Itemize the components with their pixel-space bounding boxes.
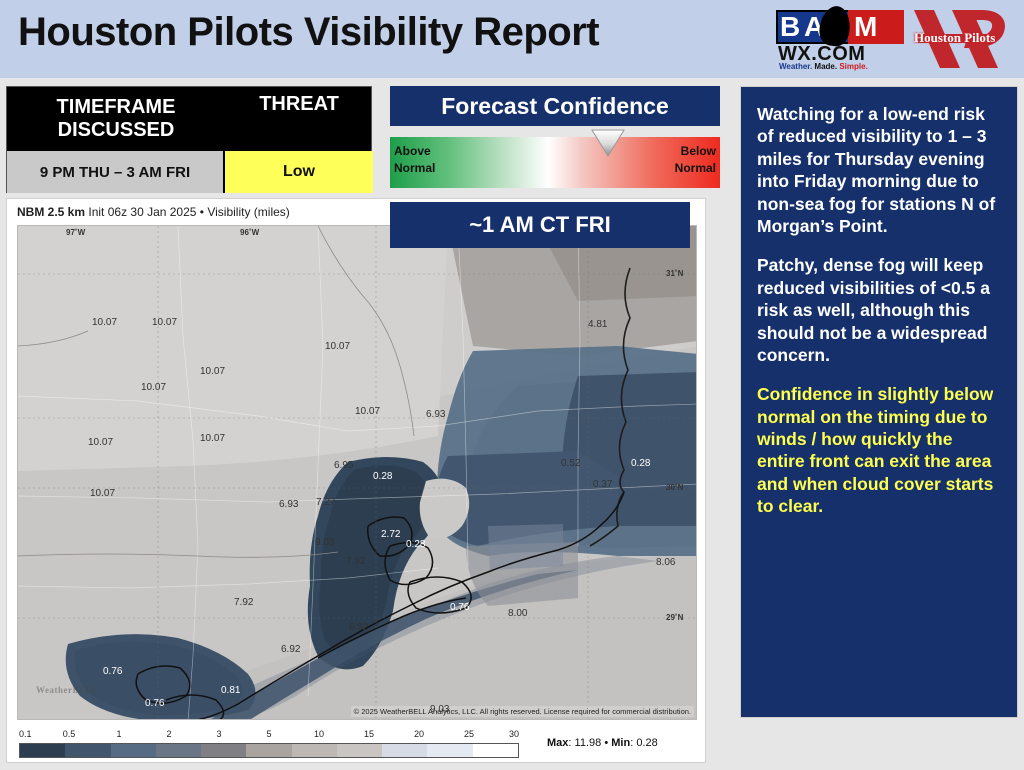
timeframe-threat-table: TIMEFRAME DISCUSSED THREAT 9 PM THU – 3 … bbox=[6, 86, 372, 193]
colorbar-tick-2: 2 bbox=[166, 729, 171, 739]
bam-letter-b: B bbox=[780, 11, 800, 43]
lon-label-97w: 97˚W bbox=[66, 228, 85, 237]
weatherbell-watermark: WeatherBELL bbox=[36, 685, 99, 695]
colorbar-tick-0.5: 0.5 bbox=[63, 729, 76, 739]
stats-separator: • bbox=[604, 737, 608, 749]
header-timeframe-line2: DISCUSSED bbox=[58, 119, 175, 142]
colorbar-band-0 bbox=[20, 744, 65, 757]
colorbar: 0.10.512351015202530 bbox=[19, 729, 519, 759]
min-label: Min bbox=[611, 737, 630, 749]
discussion-panel: Watching for a low-end risk of reduced v… bbox=[740, 86, 1018, 718]
header-cell-threat: THREAT bbox=[225, 87, 373, 151]
colorbar-band-8 bbox=[382, 744, 427, 757]
header-timeframe-line1: TIMEFRAME bbox=[57, 96, 176, 119]
bam-letter-m: M bbox=[854, 11, 877, 43]
colorbar-tick-30: 30 bbox=[509, 729, 519, 739]
map-minmax-stats: Max: 11.98 • Min: 0.28 bbox=[547, 737, 658, 749]
confidence-label-above-normal: Above Normal bbox=[394, 143, 435, 178]
cell-threat-value: Low bbox=[225, 151, 373, 193]
colorbar-tick-25: 25 bbox=[464, 729, 474, 739]
colorbar-band-4 bbox=[201, 744, 246, 757]
colorbar-band-7 bbox=[337, 744, 382, 757]
colorbar-tick-0.1: 0.1 bbox=[19, 729, 32, 739]
map-caption: NBM 2.5 km Init 06z 30 Jan 2025 • Visibi… bbox=[17, 205, 290, 219]
header-cell-timeframe: TIMEFRAME DISCUSSED bbox=[7, 87, 225, 151]
lat-label-30n: 30˚N bbox=[666, 483, 683, 492]
page-title: Houston Pilots Visibility Report bbox=[18, 10, 599, 55]
discussion-paragraph-1: Watching for a low-end risk of reduced v… bbox=[757, 103, 1003, 237]
colorbar-tick-labels: 0.10.512351015202530 bbox=[19, 729, 519, 741]
table-row: 9 PM THU – 3 AM FRI Low bbox=[7, 151, 371, 193]
colorbar-band-3 bbox=[156, 744, 201, 757]
map-raster-svg bbox=[18, 226, 697, 720]
tagline-made: Made. bbox=[812, 62, 837, 71]
lon-label-96w: 96˚W bbox=[240, 228, 259, 237]
colorbar-tick-15: 15 bbox=[364, 729, 374, 739]
below-normal-line2: Normal bbox=[675, 161, 716, 175]
cell-timeframe-value: 9 PM THU – 3 AM FRI bbox=[7, 151, 225, 193]
forecast-confidence-gradient-bar: Above Normal Below Normal bbox=[390, 137, 720, 188]
min-value: 0.28 bbox=[636, 737, 657, 749]
tagline-weather: Weather. bbox=[779, 62, 812, 71]
colorbar-tick-3: 3 bbox=[216, 729, 221, 739]
bamwx-logo-icon: B A M WX.COM Weather. Made. Simple. bbox=[776, 10, 904, 72]
valid-time-banner: ~1 AM CT FRI bbox=[390, 202, 690, 248]
colorbar-band-10 bbox=[473, 744, 518, 757]
colorbar-tick-20: 20 bbox=[414, 729, 424, 739]
colorbar-tick-5: 5 bbox=[266, 729, 271, 739]
houston-pilots-label: Houston Pilots bbox=[914, 30, 995, 46]
map-credit: © 2025 WeatherBELL Analytics, LLC. All r… bbox=[351, 706, 694, 717]
above-normal-line2: Normal bbox=[394, 161, 435, 175]
map-image[interactable]: 97˚W 96˚W 31˚N 30˚N 29˚N WeatherBELL © 2… bbox=[17, 225, 697, 720]
colorbar-band-6 bbox=[292, 744, 337, 757]
bam-tagline: Weather. Made. Simple. bbox=[779, 62, 868, 71]
map-caption-model: NBM 2.5 km bbox=[17, 205, 85, 219]
table-header-row: TIMEFRAME DISCUSSED THREAT bbox=[7, 87, 371, 151]
discussion-paragraph-2: Patchy, dense fog will keep reduced visi… bbox=[757, 254, 1003, 366]
colorbar-tick-10: 10 bbox=[314, 729, 324, 739]
colorbar-band-1 bbox=[65, 744, 110, 757]
colorbar-band-5 bbox=[246, 744, 291, 757]
lat-label-29n: 29˚N bbox=[666, 613, 683, 622]
colorbar-band-2 bbox=[111, 744, 156, 757]
forecast-confidence-title: Forecast Confidence bbox=[390, 86, 720, 126]
colorbar-swatches bbox=[19, 743, 519, 758]
colorbar-band-9 bbox=[427, 744, 472, 757]
chevron-down-marker-icon bbox=[591, 128, 625, 158]
discussion-paragraph-3: Confidence in slightly below normal on t… bbox=[757, 383, 1003, 517]
max-value: 11.98 bbox=[575, 737, 602, 749]
tagline-simple: Simple. bbox=[837, 62, 868, 71]
visibility-map-panel: NBM 2.5 km Init 06z 30 Jan 2025 • Visibi… bbox=[6, 198, 706, 763]
houston-pilots-logo-icon: Houston Pilots bbox=[908, 6, 1016, 72]
colorbar-tick-1: 1 bbox=[116, 729, 121, 739]
confidence-label-below-normal: Below Normal bbox=[675, 143, 716, 178]
max-label: Max bbox=[547, 737, 568, 749]
map-caption-rest: Init 06z 30 Jan 2025 • Visibility (miles… bbox=[88, 205, 289, 219]
lat-label-31n: 31˚N bbox=[666, 269, 683, 278]
below-normal-line1: Below bbox=[681, 144, 716, 158]
above-normal-line1: Above bbox=[394, 144, 431, 158]
